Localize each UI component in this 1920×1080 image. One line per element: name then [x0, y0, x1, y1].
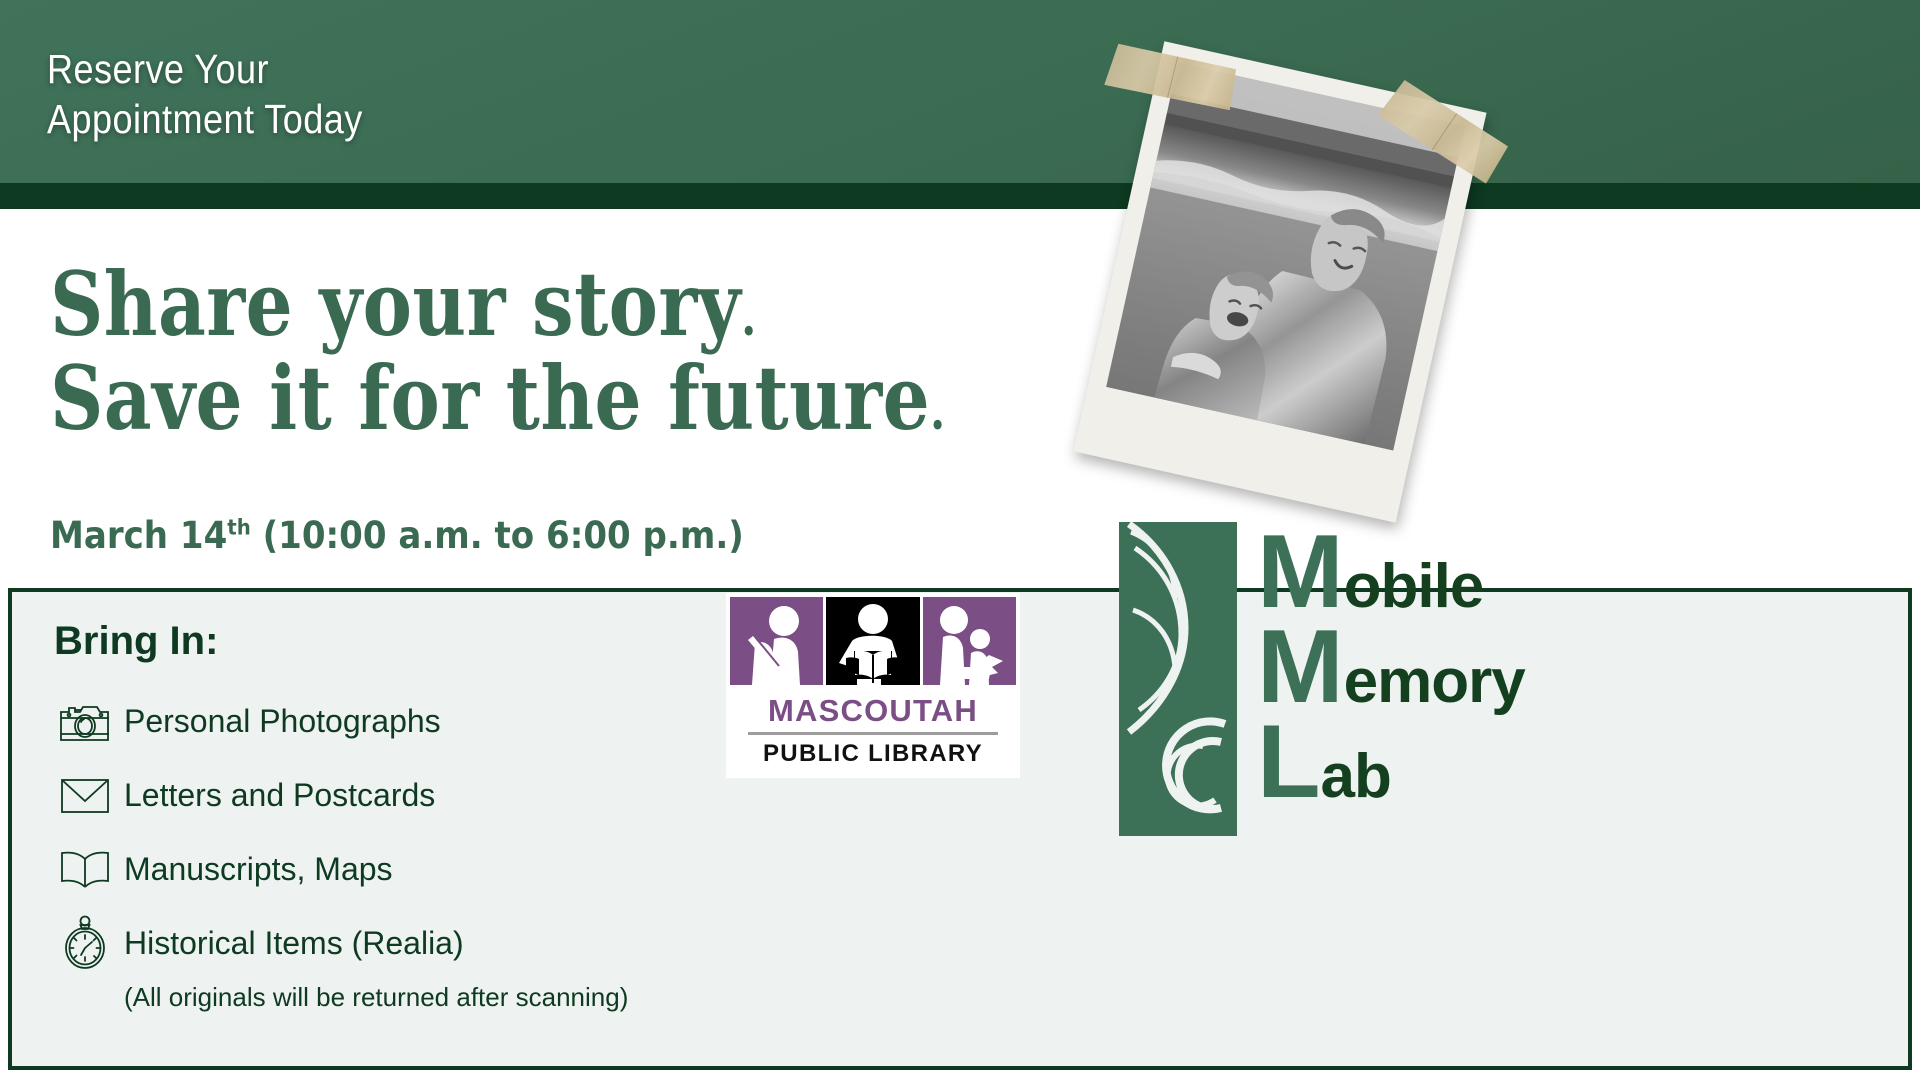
event-date-ordinal: th — [227, 516, 250, 541]
headline-line-1-period: . — [741, 287, 757, 348]
mml-rest-text: emory — [1342, 654, 1525, 710]
hero-section: Share your story. Save it for the future… — [0, 209, 1920, 590]
list-item: Personal Photographs — [54, 684, 464, 758]
mml-big-letter: M — [1257, 623, 1342, 711]
open-book-icon — [54, 849, 116, 889]
mascoutah-wordmark: MASCOUTAH PUBLIC LIBRARY — [726, 685, 1020, 768]
list-item: Letters and Postcards — [54, 758, 464, 832]
person-reading-tablet-icon — [730, 597, 823, 685]
originals-returned-note: (All originals will be returned after sc… — [124, 982, 628, 1013]
mml-big-letter: L — [1257, 718, 1319, 806]
mascoutah-name: MASCOUTAH — [726, 693, 1020, 729]
list-item: Manuscripts, Maps — [54, 832, 464, 906]
pocket-watch-icon — [54, 915, 116, 971]
envelope-icon — [54, 775, 116, 815]
bring-in-list: Personal Photographs Letters and Postcar… — [54, 684, 464, 980]
headline-line-2: Save it for the future. — [50, 351, 946, 445]
headline-line-2-text: Save it for the future — [50, 346, 930, 450]
bring-in-heading: Bring In: — [54, 619, 218, 664]
camera-icon — [54, 700, 116, 742]
person-reading-book-icon — [826, 597, 919, 685]
header-banner: Reserve Your Appointment Today — [0, 0, 1920, 183]
list-item-label: Historical Items (Realia) — [116, 925, 464, 962]
header-divider-rule — [0, 183, 1920, 209]
headline-line-1-text: Share your story — [50, 252, 741, 356]
polaroid-photo-group — [1040, 30, 1560, 570]
event-time-range: (10:00 a.m. to 6:00 p.m.) — [251, 514, 744, 557]
adult-and-child-reading-icon — [923, 597, 1016, 685]
bring-in-panel: Bring In: Personal Photographs — [8, 588, 1912, 1070]
list-item-label: Personal Photographs — [116, 703, 441, 740]
mml-rest-text: ab — [1319, 749, 1391, 805]
headline-line-2-period: . — [930, 381, 946, 442]
list-item: Historical Items (Realia) — [54, 906, 464, 980]
list-item-label: Manuscripts, Maps — [116, 851, 393, 888]
mml-row-lab: L ab — [1257, 718, 1525, 813]
header-title: Reserve Your Appointment Today — [47, 44, 363, 144]
mascoutah-divider-rule — [748, 732, 998, 735]
event-date-time: March 14th (10:00 a.m. to 6:00 p.m.) — [50, 514, 744, 557]
mascoutah-public-library-logo: MASCOUTAH PUBLIC LIBRARY — [726, 593, 1020, 778]
event-date-prefix: March 14 — [50, 514, 227, 557]
mascoutah-subtitle: PUBLIC LIBRARY — [726, 740, 1020, 768]
mascoutah-logo-icon-row — [726, 593, 1020, 685]
page-title: Share your story. Save it for the future… — [50, 257, 946, 445]
headline-line-1: Share your story. — [50, 257, 946, 351]
list-item-label: Letters and Postcards — [116, 777, 435, 814]
mml-wordmark: M obile M emory L ab — [1257, 528, 1525, 813]
